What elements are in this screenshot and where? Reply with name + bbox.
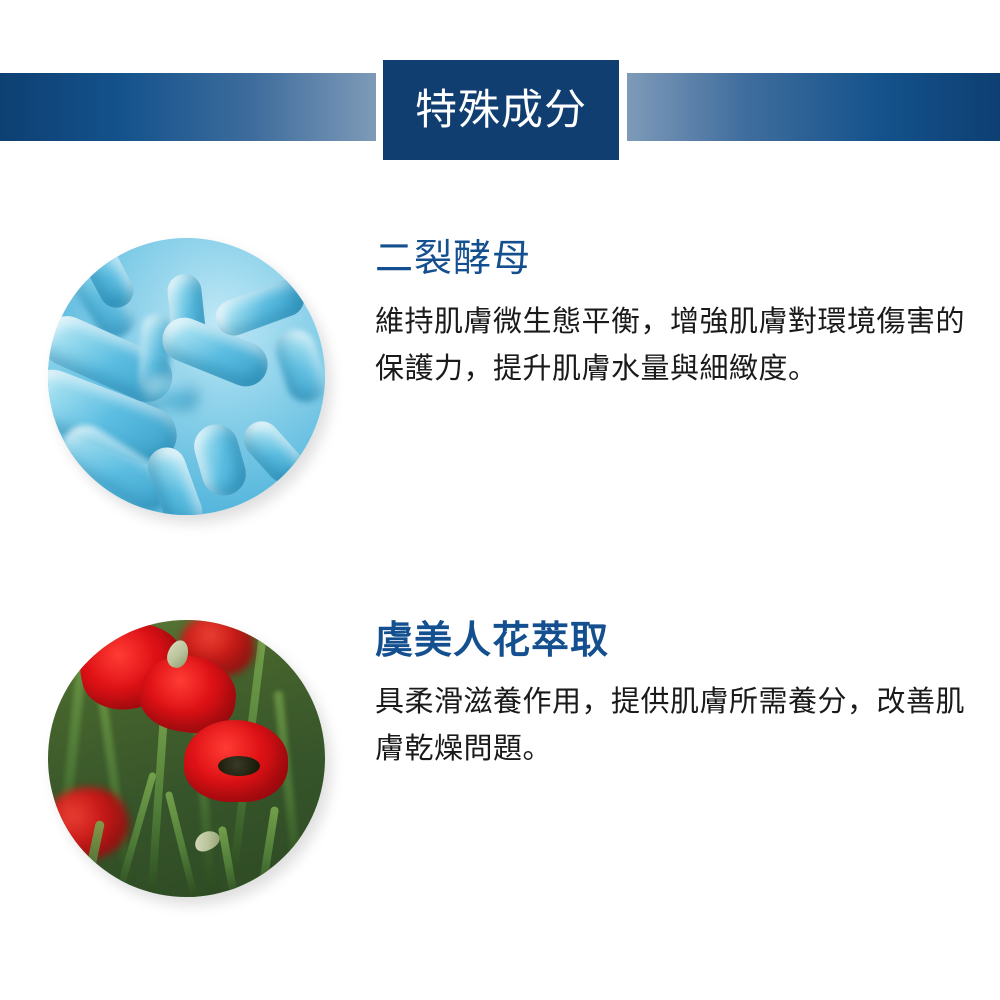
ingredient-description-poppy: 具柔滑滋養作用，提供肌膚所需養分，改善肌膚乾燥問題。 [375, 679, 965, 773]
banner-band-right [627, 73, 1000, 141]
ingredient-heading-poppy: 虞美人花萃取 [375, 620, 975, 663]
page-title: 特殊成分 [415, 89, 587, 131]
bifida-text-column: 二裂酵母 維持肌膚微生態平衡，增強肌膚對環境傷害的保護力，提升肌膚水量與細緻度。 [375, 238, 975, 392]
header-title-box: 特殊成分 [383, 60, 619, 160]
ingredient-description-bifida: 維持肌膚微生態平衡，增強肌膚對環境傷害的保護力，提升肌膚水量與細緻度。 [375, 299, 965, 393]
poppy-illustration [48, 620, 325, 897]
poppy-flower-extract-photo [48, 620, 325, 897]
bacteria-illustration [48, 238, 325, 515]
banner-band-left [0, 73, 376, 141]
poppy-text-column: 虞美人花萃取 具柔滑滋養作用，提供肌膚所需養分，改善肌膚乾燥問題。 [375, 620, 975, 772]
ingredient-heading-bifida: 二裂酵母 [375, 238, 975, 281]
bifida-ferment-bacteria-photo [48, 238, 325, 515]
header-banner: 特殊成分 [0, 0, 1000, 175]
ingredient-info-page: 特殊成分 [0, 0, 1000, 1000]
poppy-flower-center [218, 756, 260, 776]
